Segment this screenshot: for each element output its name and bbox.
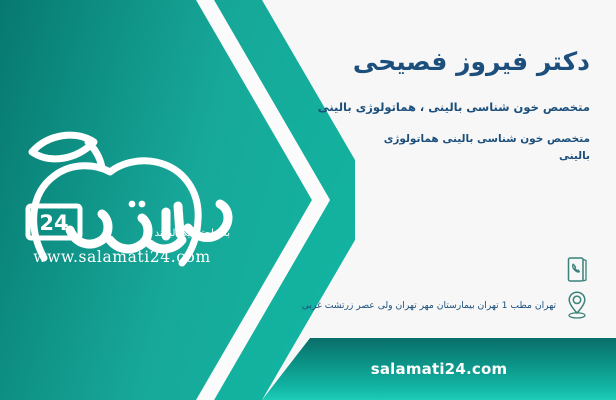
contact-row-phone[interactable] xyxy=(556,252,592,286)
contact-row-address[interactable]: تهران مطب 1 تهران بیمارستان مهر تهران ول… xyxy=(292,288,592,322)
logo-website[interactable]: www.salamati24.com xyxy=(22,248,222,266)
doctor-specialty-secondary: متخصص خون شناسی بالینی هماتولوژی بالینی xyxy=(380,131,590,165)
doctor-profile-card: 24 به راحتی یک لبخند www.salamati24.com … xyxy=(0,0,616,400)
phone-book-icon xyxy=(562,252,592,286)
logo-tagline: به راحتی یک لبخند xyxy=(120,228,230,239)
svg-text:24: 24 xyxy=(39,211,68,235)
footer-website-label[interactable]: salamati24.com xyxy=(262,338,616,400)
doctor-specialty-primary: متخصص خون شناسی بالینی ، هماتولوژی بالین… xyxy=(290,100,590,114)
doctor-name: دکتر فیروز فصیحی xyxy=(353,47,590,76)
contact-address-value: تهران مطب 1 تهران بیمارستان مهر تهران ول… xyxy=(302,300,562,311)
map-pin-icon xyxy=(562,288,592,322)
